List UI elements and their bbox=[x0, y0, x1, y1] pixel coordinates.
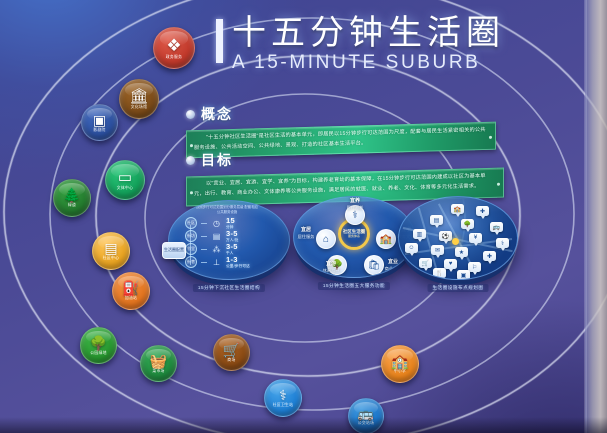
fuel-icon: ⛽ bbox=[122, 281, 139, 295]
panel-goal-head: 目标 bbox=[186, 150, 504, 170]
clock-icon: ◷ bbox=[211, 218, 222, 228]
badge-market[interactable]: 🧺 菜市场 bbox=[140, 345, 177, 382]
badge-label: 中小学 bbox=[394, 369, 406, 374]
row-value-number: 3-5 bbox=[226, 229, 238, 238]
title-accent-bar bbox=[216, 19, 223, 63]
badge-government[interactable]: ❖ 政务服务 bbox=[153, 27, 195, 69]
market-icon: ▤ bbox=[434, 217, 440, 224]
wall-edge bbox=[585, 0, 607, 433]
bus-icon: 🚌 bbox=[493, 224, 500, 231]
disc-map-surface: 🏫 ✚ ▤ 🌳 🚌 ▥ ⚽ ¥ ⚕ ☺ ✉ ★ ✚ 🛒 ♥ ⚐ 🍴 ▣ bbox=[398, 196, 518, 280]
park-icon: 🌳 bbox=[90, 336, 107, 350]
map-pin[interactable]: ⚐ bbox=[468, 262, 481, 272]
canteen-icon: 🍴 bbox=[436, 270, 443, 277]
disc-standards-caption: 15分钟下沉社区生活圈结构 bbox=[193, 284, 265, 292]
panel-dot-left-icon bbox=[190, 191, 193, 194]
row-value: 3-5 千人 bbox=[226, 242, 238, 256]
map-pin[interactable]: ☺ bbox=[405, 243, 418, 253]
map-pin[interactable]: 🛒 bbox=[419, 258, 432, 268]
badge-mall[interactable]: 🛒 商场 bbox=[213, 334, 250, 371]
badge-label: 社区卫生站 bbox=[273, 403, 293, 408]
disc-map-caption: 生活圈设施布点规划图 bbox=[428, 284, 489, 292]
title-chinese: 十五分钟生活圈 bbox=[232, 16, 505, 51]
row-node-label: 街巷 bbox=[185, 256, 197, 268]
map-pin[interactable]: 🏫 bbox=[451, 204, 464, 214]
park-icon: 🌳 bbox=[464, 221, 471, 228]
bullet-dot-icon bbox=[186, 110, 195, 119]
spoke-sub: 居住服务 bbox=[298, 234, 315, 239]
row-node-label: 社区 bbox=[185, 217, 197, 229]
panel-dot-right-icon bbox=[497, 183, 500, 186]
badge-label: 影剧院 bbox=[93, 128, 105, 133]
screen-icon: ▣ bbox=[93, 113, 106, 127]
badge-school[interactable]: 🏫 中小学 bbox=[381, 345, 419, 383]
map-pin[interactable]: 🌳 bbox=[461, 219, 474, 229]
kindergarten-icon: ☺ bbox=[408, 245, 414, 251]
badge-civic-hall[interactable]: 🏛 文化场馆 bbox=[119, 79, 159, 119]
badge-label: 商场 bbox=[227, 358, 235, 363]
spoke-caption: 宜居 居住服务 bbox=[295, 227, 317, 239]
row-value: 15 分钟 bbox=[226, 216, 235, 230]
greenway-icon: 🌲 bbox=[63, 188, 80, 202]
monitor-icon: ▭ bbox=[118, 170, 132, 185]
row-value: 3-5 万人/处 bbox=[226, 229, 239, 243]
panel-dot-left-icon bbox=[190, 144, 193, 147]
people-icon: ⁂ bbox=[211, 244, 222, 254]
building-icon: ▤ bbox=[211, 231, 222, 241]
row-connector bbox=[201, 223, 207, 224]
home-icon: ⌂ bbox=[323, 234, 329, 245]
panel-concept-head: 概念 bbox=[186, 104, 496, 124]
badge-label: 加油站 bbox=[125, 296, 137, 301]
row-value-unit: 公里/步行可达 bbox=[226, 264, 250, 269]
center-hotspot-icon bbox=[452, 238, 459, 245]
bank-icon: ¥ bbox=[474, 235, 477, 241]
badge-label: 公园绿地 bbox=[90, 351, 106, 356]
map-pin[interactable]: ⚽ bbox=[439, 231, 452, 241]
map-pin[interactable]: ★ bbox=[455, 247, 468, 257]
map-pin[interactable]: ▣ bbox=[457, 270, 470, 280]
sport-icon: ⚐ bbox=[472, 264, 477, 271]
row-connector bbox=[201, 262, 207, 263]
care-icon: ♥ bbox=[449, 261, 453, 267]
panel-dot-right-icon bbox=[489, 136, 492, 139]
standards-row: 街坊 ▤ 3-5 万人/处 bbox=[185, 230, 273, 242]
floor-shadow bbox=[0, 417, 607, 433]
badge-greenway[interactable]: 🌲 绿道 bbox=[53, 179, 91, 217]
disc-map[interactable]: 🏫 ✚ ▤ 🌳 🚌 ▥ ⚽ ¥ ⚕ ☺ ✉ ★ ✚ 🛒 ♥ ⚐ 🍴 ▣ 生活圈设… bbox=[398, 196, 518, 280]
building-icon: 🏛 bbox=[129, 89, 148, 104]
badge-community[interactable]: ▤ 社区中心 bbox=[92, 232, 130, 270]
disc-standards-rows: 社区 ◷ 15 分钟 街坊 ▤ 3-5 万人/处 bbox=[185, 217, 273, 269]
police-icon: ★ bbox=[459, 249, 464, 256]
disc-standards-badge: 生活圈配置 bbox=[162, 242, 186, 259]
panel-concept-title: 概念 bbox=[201, 104, 233, 124]
education-icon: 🏫 bbox=[380, 234, 392, 245]
badge-park[interactable]: 🌳 公园绿地 bbox=[80, 327, 117, 364]
disc-standards-note: 按照步行可达范围划分服务层级 配套相应公共服务设施 bbox=[195, 205, 259, 216]
tree-spine bbox=[190, 225, 191, 265]
spoke-sub: 医疗养老 bbox=[347, 205, 364, 210]
badge-culture[interactable]: ▭ 文体中心 bbox=[105, 160, 145, 200]
map-pin[interactable]: 🍴 bbox=[433, 268, 446, 278]
panel-concept: 概念 "十五分钟社区生活圈"是社区生活的基本单元，即居民以15分钟步行可达范围为… bbox=[186, 104, 496, 154]
disc-services[interactable]: 社区生活圈 服务体系 ⚕ 宜养 医疗养老 🏫 宜学 教育文化 🛍 宜业 bbox=[293, 196, 415, 278]
disc-standards[interactable]: 按照步行可达范围划分服务层级 配套相应公共服务设施 社区 ◷ 15 分钟 街坊 … bbox=[168, 200, 290, 280]
standards-row: 街巷 ⊥ 1-3 公里/步行可达 bbox=[185, 256, 273, 268]
spoke-caption: 宜游 休闲游憩 bbox=[316, 261, 346, 273]
pharmacy-icon: ⚕ bbox=[501, 240, 504, 247]
title-english: A 15-MINUTE SUBURB bbox=[232, 52, 505, 74]
map-pin[interactable]: ▥ bbox=[413, 229, 426, 239]
badge-label: 社区中心 bbox=[103, 256, 119, 261]
standards-row: 邻里 ⁂ 3-5 千人 bbox=[185, 243, 273, 255]
badge-label: 文体中心 bbox=[117, 186, 133, 191]
map-pin[interactable]: ♥ bbox=[444, 259, 457, 269]
spoke-sub: 休闲游憩 bbox=[323, 268, 340, 273]
medical-icon: ⚕ bbox=[279, 388, 287, 402]
row-value-number: 3-5 bbox=[226, 242, 238, 251]
school-icon: 🏫 bbox=[391, 354, 408, 368]
map-pin[interactable]: ▤ bbox=[430, 215, 443, 225]
hospital-icon: ✚ bbox=[480, 208, 485, 215]
row-value: 1-3 公里/步行可达 bbox=[226, 255, 250, 269]
standards-row: 社区 ◷ 15 分钟 bbox=[185, 217, 273, 229]
map-pin[interactable]: ✉ bbox=[431, 245, 444, 255]
row-value-number: 15 bbox=[226, 216, 235, 225]
panel-goal: 目标 以"宜业、宜居、宜游、宜学、宜养"为目标，构建养老育幼的基本保障，在15分… bbox=[186, 150, 504, 202]
disc-standards-surface: 按照步行可达范围划分服务层级 配套相应公共服务设施 社区 ◷ 15 分钟 街坊 … bbox=[168, 200, 290, 280]
spoke-caption: 宜养 医疗养老 bbox=[334, 198, 376, 210]
plaza-icon: ▣ bbox=[461, 272, 467, 279]
spoke-node[interactable]: 🏫 bbox=[376, 229, 396, 249]
shop-icon: 🛒 bbox=[422, 260, 429, 267]
map-pin[interactable]: ¥ bbox=[469, 233, 482, 243]
badge-label: 政务服务 bbox=[166, 55, 182, 60]
map-pin[interactable]: 🚌 bbox=[490, 222, 503, 232]
map-pin[interactable]: ⚕ bbox=[496, 238, 509, 248]
row-value-number: 1-3 bbox=[226, 255, 238, 264]
health-icon: ⚕ bbox=[352, 210, 357, 221]
gym-icon: ⚽ bbox=[442, 233, 449, 240]
disc-services-surface: 社区生活圈 服务体系 ⚕ 宜养 医疗养老 🏫 宜学 教育文化 🛍 宜业 bbox=[293, 196, 415, 278]
clinic-icon: ✚ bbox=[487, 253, 492, 260]
board-title: 十五分钟生活圈 A 15-MINUTE SUBURB bbox=[232, 16, 505, 74]
row-connector bbox=[201, 249, 207, 250]
row-node-label: 街坊 bbox=[185, 230, 197, 242]
spoke-node[interactable]: ⌂ bbox=[316, 229, 336, 249]
bullet-dot-icon bbox=[186, 156, 195, 165]
badge-label: 绿道 bbox=[68, 203, 76, 208]
post-icon: ✉ bbox=[435, 247, 440, 254]
map-pin[interactable]: ✚ bbox=[483, 251, 496, 261]
hall-icon: ▤ bbox=[104, 241, 117, 255]
school-icon: 🏫 bbox=[454, 206, 461, 213]
badge-pharmacy[interactable]: ⚕ 社区卫生站 bbox=[264, 379, 302, 417]
disc-services-caption: 15分钟生活圈五大服务功能 bbox=[318, 282, 390, 290]
badge-label: 文化场馆 bbox=[131, 105, 147, 110]
library-icon: ▥ bbox=[417, 231, 423, 238]
path-icon: ⊥ bbox=[211, 257, 222, 267]
basket-icon: 🧺 bbox=[150, 354, 167, 368]
exhibition-board: 十五分钟生活圈 A 15-MINUTE SUBURB 概念 "十五分钟社区生活圈… bbox=[0, 0, 607, 433]
badge-label: 菜市场 bbox=[152, 369, 164, 374]
row-node-label: 邻里 bbox=[185, 243, 197, 255]
map-pin[interactable]: ✚ bbox=[476, 206, 489, 216]
badge-station[interactable]: ⛽ 加油站 bbox=[112, 272, 150, 310]
hub-sublabel: 服务体系 bbox=[348, 234, 360, 238]
cart-icon: 🛒 bbox=[223, 343, 240, 357]
emblem-icon: ❖ bbox=[166, 37, 181, 54]
panel-goal-title: 目标 bbox=[201, 150, 233, 170]
badge-cinema[interactable]: ▣ 影剧院 bbox=[81, 104, 118, 141]
row-connector bbox=[201, 236, 207, 237]
